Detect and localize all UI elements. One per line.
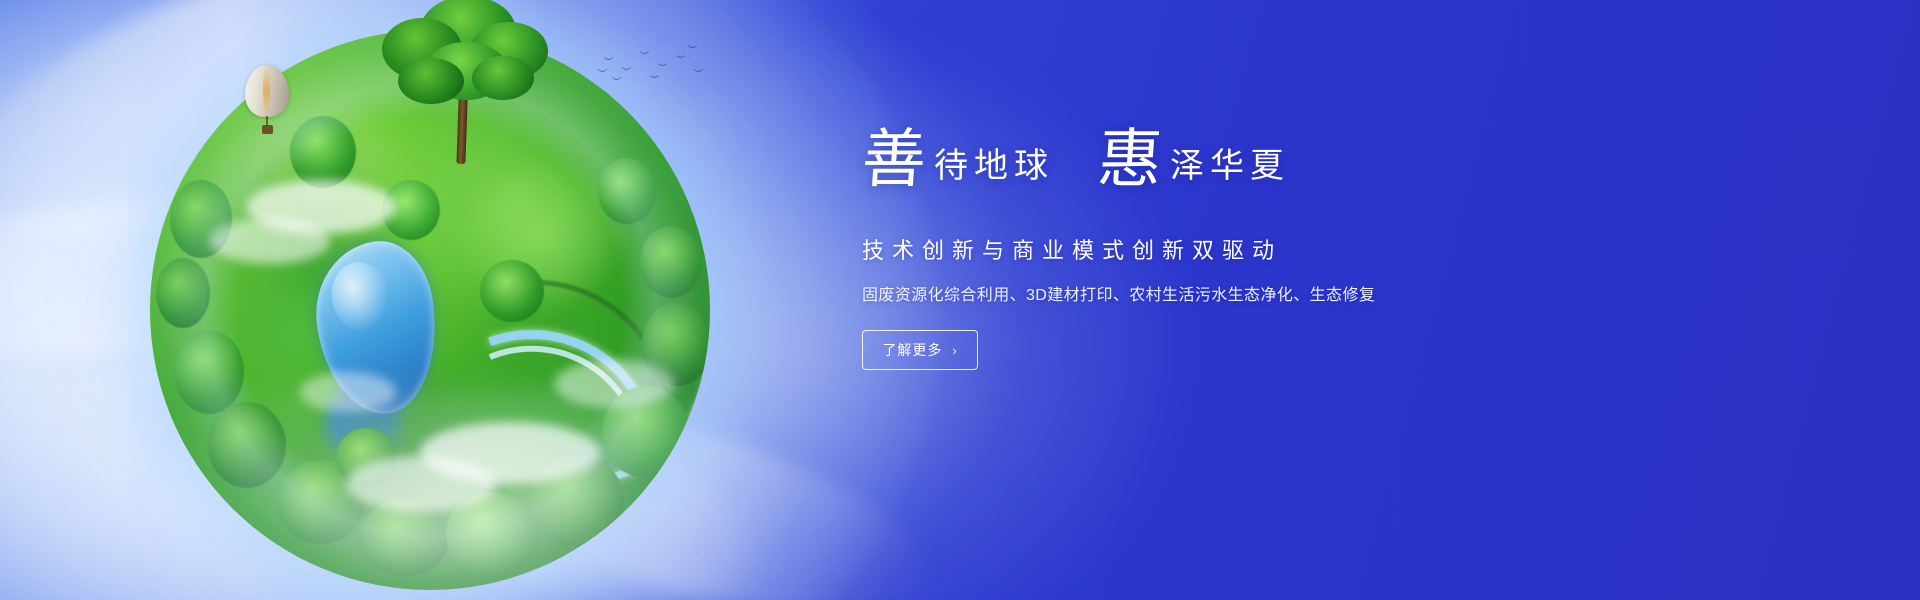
bird-icon: ︶ <box>598 70 607 79</box>
planet-cloud <box>554 360 674 408</box>
balloon-envelope <box>245 65 289 117</box>
hero-subtitle: 技术创新与商业模式创新双驱动 <box>862 236 1482 266</box>
tree-canopy <box>174 330 244 414</box>
balloon-stripe <box>263 66 270 116</box>
bird-icon: ︶ <box>604 58 613 67</box>
bird-icon: ︶ <box>612 78 621 87</box>
bird-icon: ︶ <box>676 56 685 65</box>
bird-icon: ︶ <box>622 68 631 77</box>
tree-canopy <box>156 258 210 328</box>
balloon-basket <box>262 125 273 134</box>
planet-cloud <box>300 372 396 412</box>
headline-part1-small: 待地球 <box>934 150 1054 184</box>
hot-air-balloon <box>245 65 289 135</box>
headline-part2-small: 泽华夏 <box>1170 150 1290 184</box>
hero-headline: 善待地球惠泽华夏 <box>862 128 1482 214</box>
hero-banner: ︶ ︶ ︶ ︶ ︶ ︶ ︶ ︶ ︶ ︶ 善待地球惠泽华夏 技术创新与商业模式创新… <box>0 0 1920 600</box>
chevron-right-icon: › <box>952 343 957 358</box>
bird-icon: ︶ <box>658 64 667 73</box>
learn-more-button[interactable]: 了解更多 › <box>862 330 978 370</box>
bird-icon: ︶ <box>694 70 703 79</box>
hero-description: 固废资源化综合利用、3D建材打印、农村生活污水生态净化、生态修复 <box>862 284 1482 308</box>
tree-canopy <box>290 116 356 188</box>
tree-canopy <box>472 56 534 100</box>
little-planet-globe <box>150 30 710 590</box>
tree-canopy <box>398 58 464 104</box>
planet-cloud <box>210 218 330 264</box>
bird-icon: ︶ <box>640 52 649 61</box>
hero-content: 善待地球惠泽华夏 技术创新与商业模式创新双驱动 固废资源化综合利用、3D建材打印… <box>862 128 1482 370</box>
tree-canopy <box>640 226 702 298</box>
headline-part2-big: 惠 <box>1096 128 1164 192</box>
tree-canopy <box>598 158 656 224</box>
headline-part1-big: 善 <box>860 128 928 192</box>
tree-canopy <box>208 402 286 488</box>
tree-canopy <box>480 260 544 322</box>
planet-cloud <box>346 456 496 512</box>
tree-on-planet <box>368 0 558 126</box>
bird-icon: ︶ <box>688 46 697 55</box>
bird-icon: ︶ <box>650 76 659 85</box>
learn-more-label: 了解更多 <box>882 340 942 360</box>
